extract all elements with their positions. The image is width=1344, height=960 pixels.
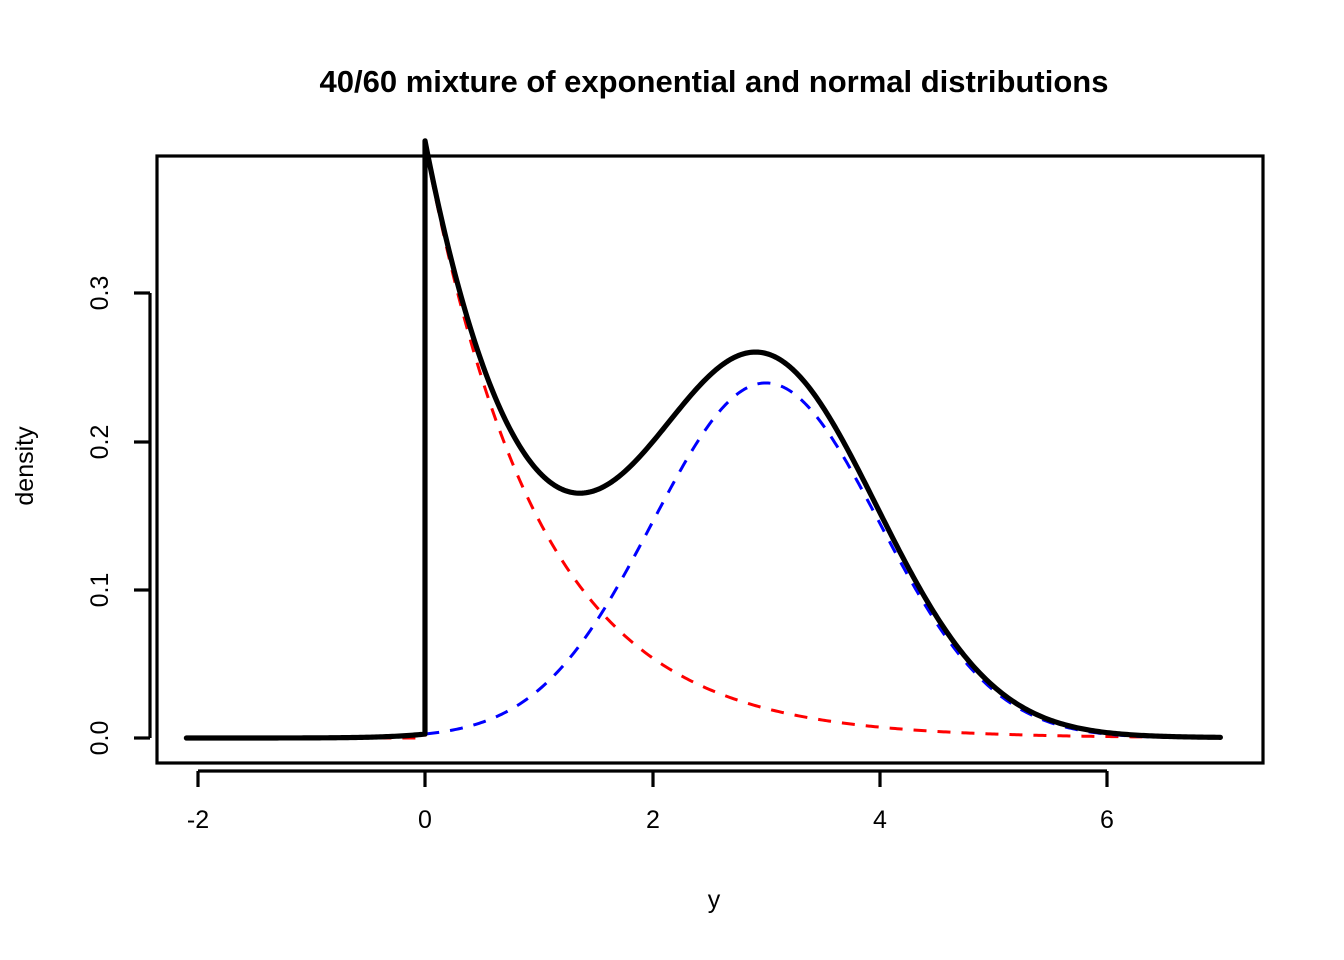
y-axis: 0.3 0.2 0.1 0.0 [86,276,150,756]
plot-panel-border [157,156,1263,763]
y-tick-label-0.3: 0.3 [86,276,114,311]
chart-page: 40/60 mixture of exponential and normal … [0,0,1344,960]
x-tick-label-2: 2 [646,806,660,834]
exponential-component-curve [186,145,1220,738]
curve-layer [186,141,1220,738]
y-tick-label-0.1: 0.1 [86,573,114,608]
y-tick-label-0.2: 0.2 [86,425,114,460]
y-axis-title: density [11,426,39,506]
normal-component-curve [186,383,1220,738]
x-axis: -2 0 2 4 6 [187,771,1114,834]
x-tick-label--2: -2 [187,806,209,834]
chart-title: 40/60 mixture of exponential and normal … [320,64,1109,99]
x-tick-label-4: 4 [873,806,887,834]
y-tick-label-0.0: 0.0 [86,721,114,756]
density-plot-figure: 40/60 mixture of exponential and normal … [0,0,1344,960]
x-tick-label-6: 6 [1100,806,1114,834]
x-tick-label-0: 0 [418,806,432,834]
x-axis-title: y [708,886,721,914]
mixture-density-curve [186,141,1220,738]
